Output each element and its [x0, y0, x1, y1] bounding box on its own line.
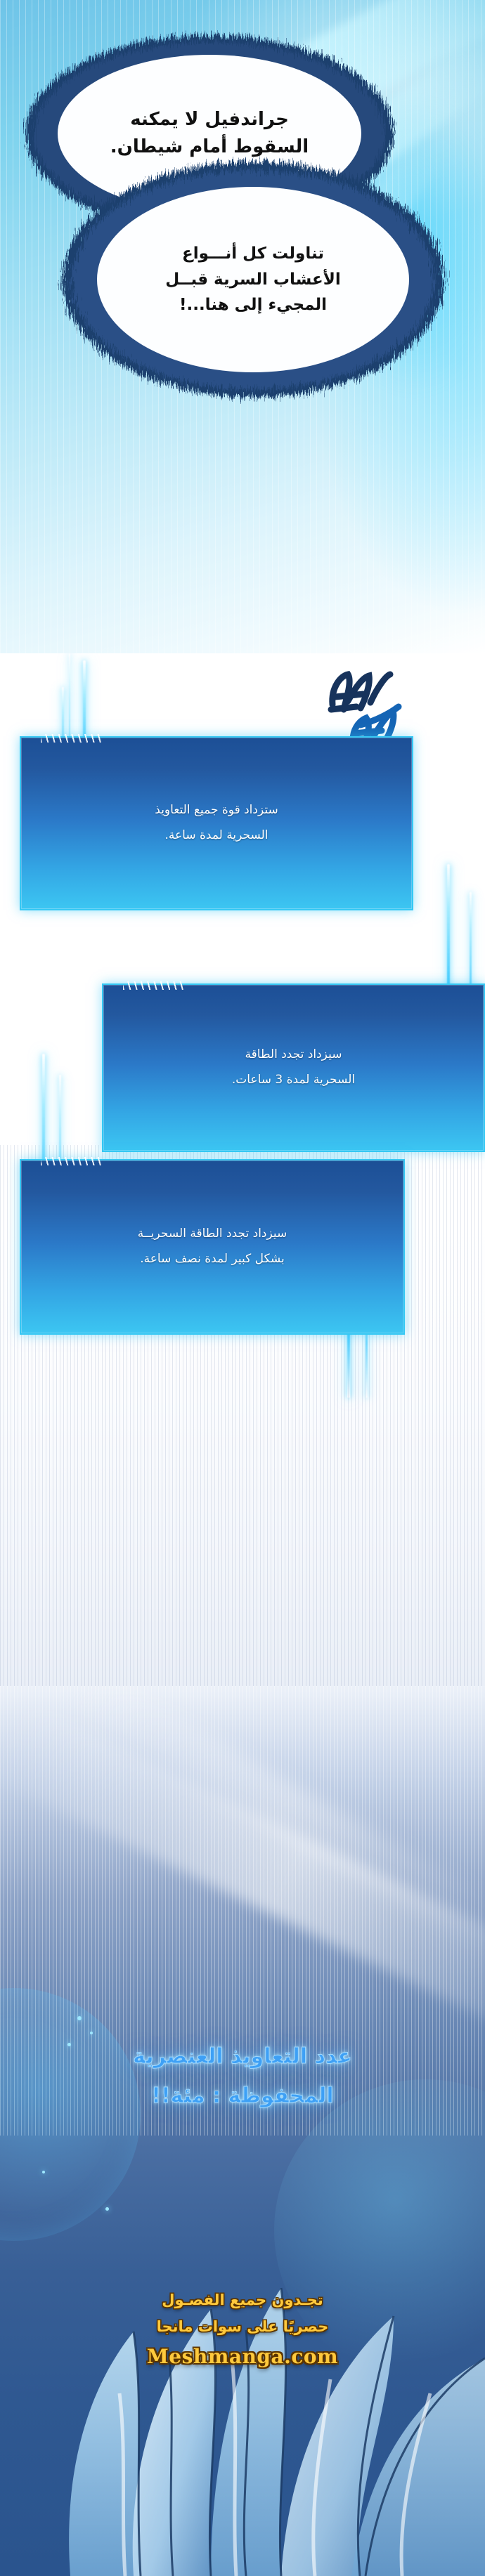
- energy-strands-artwork: [0, 2183, 485, 2576]
- panel-system-status: ستزداد قوة جميع التعاويذ السحرية لمدة سا…: [0, 653, 485, 1686]
- status-box-3-line-2: بشكل كبير لمدة نصف ساعة.: [39, 1247, 385, 1272]
- chapter-status-title: عدد التعاويذ العنصرية المحفوظة : مئة!!: [0, 2037, 485, 2115]
- chapter-status-title-line-2: المحفوظة : مئة!!: [0, 2077, 485, 2116]
- status-box-3: سيزداد تجدد الطاقة السحريــة بشكل كبير ل…: [20, 1159, 405, 1335]
- status-box-2-line-2: السحرية لمدة 3 ساعات.: [122, 1068, 465, 1093]
- spark-1: [77, 2016, 82, 2020]
- spark-5: [42, 2171, 45, 2173]
- bubble-2-line-1: تناولت كل أنـــواع: [182, 241, 324, 267]
- panel-finale-artwork: عدد التعاويذ العنصرية المحفوظة : مئة!! ت…: [0, 1686, 485, 2576]
- status-box-1-line-2: السحرية لمدة ساعة.: [39, 823, 394, 849]
- status-box-2: سيزداد تجدد الطاقة السحرية لمدة 3 ساعات.: [102, 983, 485, 1152]
- status-box-2-line-1: سيزداد تجدد الطاقة: [122, 1042, 465, 1068]
- site-watermark[interactable]: Meshmanga.com: [0, 2345, 485, 2368]
- speech-bubble-2: تناولت كل أنـــواع الأعشاب السرية قبــل …: [42, 153, 464, 406]
- bubble-2-line-3: المجيء إلى هنا...!: [179, 292, 327, 318]
- status-box-3-line-1: سيزداد تجدد الطاقة السحريــة: [39, 1222, 385, 1247]
- spark-2: [90, 2032, 93, 2034]
- bubble-1-line-1: جراندفيل لا يمكنه: [130, 106, 289, 133]
- credit-line-2: حصريًا على سوات مانجا: [0, 2317, 485, 2336]
- webtoon-page: جراندفيل لا يمكنه السقوط أمام شيطان.: [0, 0, 485, 2576]
- speech-bubble-2-text: تناولت كل أنـــواع الأعشاب السرية قبــل …: [42, 153, 464, 406]
- chapter-status-title-line-1: عدد التعاويذ العنصرية: [0, 2037, 485, 2077]
- status-box-1-line-1: ستزداد قوة جميع التعاويذ: [39, 798, 394, 823]
- bubble-2-line-2: الأعشاب السرية قبــل: [165, 267, 340, 293]
- panel-sky-background: جراندفيل لا يمكنه السقوط أمام شيطان.: [0, 0, 485, 653]
- credit-line-1: تجـدون جميع الفصـول: [0, 2290, 485, 2310]
- status-box-1: ستزداد قوة جميع التعاويذ السحرية لمدة سا…: [20, 736, 413, 910]
